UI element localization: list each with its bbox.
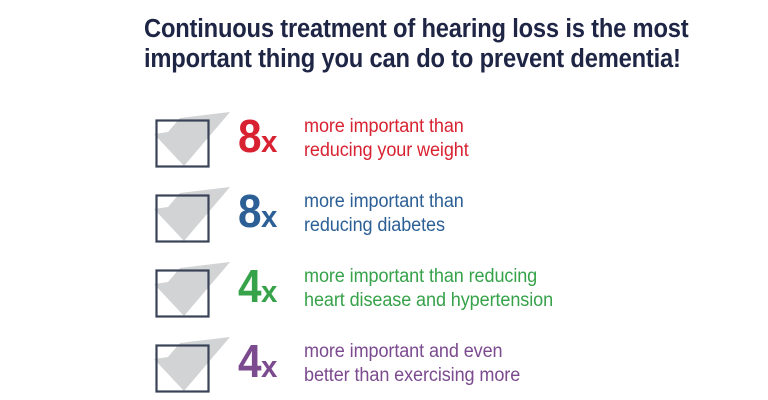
description-line-1: more important than: [304, 115, 722, 139]
fact-description: more important than reducing heart disea…: [304, 265, 722, 312]
multiplier-suffix: x: [261, 276, 277, 307]
description-line-2: better than exercising more: [304, 364, 722, 388]
multiplier-suffix: x: [261, 201, 277, 232]
checkbox-checked-icon: [150, 335, 236, 395]
infographic-canvas: Continuous treatment of hearing loss is …: [0, 0, 768, 400]
description-line-1: more important than: [304, 190, 722, 214]
page-title: Continuous treatment of hearing loss is …: [144, 14, 628, 74]
description-line-1: more important than reducing: [304, 265, 722, 289]
checkmark-icon: [150, 335, 236, 395]
description-line-2: heart disease and hypertension: [304, 289, 722, 313]
description-line-2: reducing your weight: [304, 139, 722, 163]
multiplier-number: 4: [238, 263, 260, 309]
description-line-2: reducing diabetes: [304, 214, 722, 238]
checkmark-icon: [150, 110, 236, 170]
multiplier-value: 4x: [238, 263, 302, 315]
fact-list: 8x more important than reducing your wei…: [0, 108, 768, 400]
checkmark-icon: [150, 260, 236, 320]
list-item: 8x more important than reducing your wei…: [0, 108, 768, 183]
checkmark-icon: [150, 185, 236, 245]
headline-line-2: important thing you can do to prevent de…: [144, 44, 628, 74]
list-item: 4x more important than reducing heart di…: [0, 258, 768, 333]
list-item: 4x more important and even better than e…: [0, 333, 768, 400]
fact-description: more important than reducing your weight: [304, 115, 722, 162]
headline-line-1: Continuous treatment of hearing loss is …: [144, 14, 628, 44]
checkbox-checked-icon: [150, 110, 236, 170]
list-item: 8x more important than reducing diabetes: [0, 183, 768, 258]
multiplier-value: 4x: [238, 338, 302, 390]
multiplier-value: 8x: [238, 113, 302, 165]
checkbox-checked-icon: [150, 185, 236, 245]
multiplier-number: 4: [238, 338, 260, 384]
fact-description: more important and even better than exer…: [304, 340, 722, 387]
fact-description: more important than reducing diabetes: [304, 190, 722, 237]
checkbox-checked-icon: [150, 260, 236, 320]
multiplier-value: 8x: [238, 188, 302, 240]
multiplier-number: 8: [238, 113, 260, 159]
multiplier-suffix: x: [261, 351, 277, 382]
description-line-1: more important and even: [304, 340, 722, 364]
multiplier-suffix: x: [261, 126, 277, 157]
multiplier-number: 8: [238, 188, 260, 234]
